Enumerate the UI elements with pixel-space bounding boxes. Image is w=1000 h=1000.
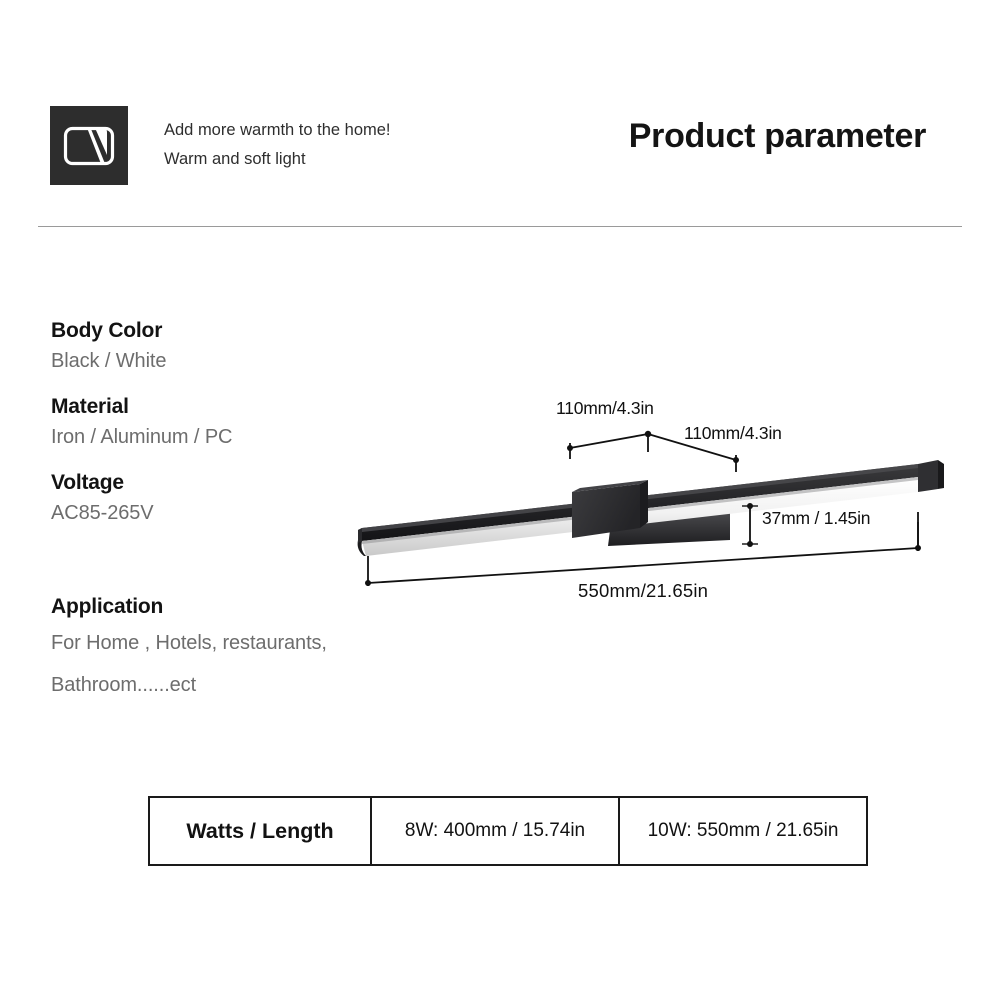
spec-value-application-line-1: For Home , Hotels, restaurants,: [51, 622, 471, 664]
table-cell-10w: 10W: 550mm / 21.65in: [619, 797, 867, 865]
header-divider: [38, 226, 962, 227]
spec-value-application-line-2: Bathroom......ect: [51, 664, 471, 706]
spec-value-body-color: Black / White: [51, 346, 471, 377]
dimension-label-depth-right: 110mm/4.3in: [684, 423, 782, 444]
tagline-line-2: Warm and soft light: [164, 145, 494, 174]
watts-length-table: Watts / Length 8W: 400mm / 15.74in 10W: …: [148, 796, 868, 866]
tagline-line-1: Add more warmth to the home!: [164, 116, 494, 145]
table-row: Watts / Length 8W: 400mm / 15.74in 10W: …: [149, 797, 867, 865]
dimension-label-width: 550mm/21.65in: [578, 580, 708, 602]
header-tagline: Add more warmth to the home! Warm and so…: [164, 116, 494, 174]
header-icon-badge: [50, 106, 128, 185]
dimension-label-height: 37mm / 1.45in: [762, 508, 870, 529]
table-cell-8w: 8W: 400mm / 15.74in: [371, 797, 619, 865]
table-row-header: Watts / Length: [149, 797, 371, 865]
spec-label-body-color: Body Color: [51, 315, 471, 346]
page-title: Product parameter: [629, 117, 926, 156]
light-panel-icon: [50, 106, 128, 185]
spec-item-body-color: Body Color Black / White: [51, 315, 471, 377]
dimension-label-depth-left: 110mm/4.3in: [556, 398, 654, 419]
